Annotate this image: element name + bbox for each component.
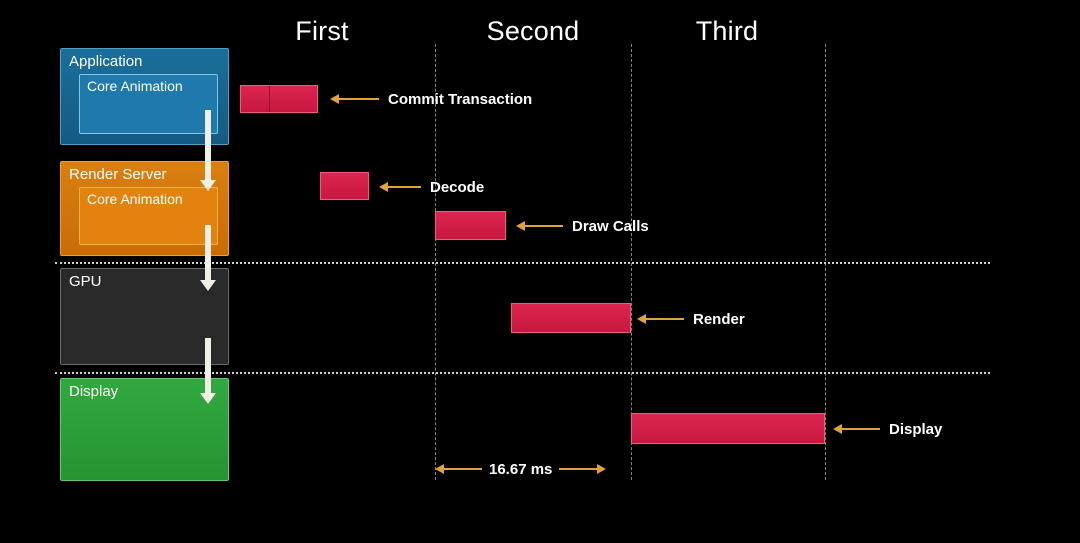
frame-header-second: Second — [487, 16, 580, 47]
frame-header-first: First — [295, 16, 348, 47]
left-arrow-icon — [637, 314, 646, 324]
frame-header-third: Third — [696, 16, 759, 47]
measure-right-arrow-icon — [597, 464, 606, 474]
application-core-animation-label: Core Animation — [87, 78, 183, 94]
bar-display — [631, 413, 825, 444]
frame-duration-measure: 16.67 ms — [435, 461, 631, 477]
left-arrow-icon — [833, 424, 842, 434]
flow-arrow-application-to-render-server — [205, 110, 211, 182]
diagram-canvas: First Second Third Application Core Anim… — [0, 0, 1080, 543]
bar-commit-transaction — [240, 85, 318, 113]
bar-decode — [320, 172, 369, 200]
lane-divider-render-gpu — [55, 262, 990, 264]
callout-label-display: Display — [889, 421, 942, 438]
flow-arrow-gpu-to-display — [205, 338, 211, 395]
left-arrow-icon — [330, 94, 339, 104]
lane-title-render-server: Render Server — [69, 166, 167, 183]
left-arrow-icon — [379, 182, 388, 192]
bar-draw-calls — [435, 211, 506, 240]
lane-block-render-server: Render Server Core Animation — [60, 161, 229, 256]
render-server-core-animation-label: Core Animation — [87, 191, 183, 207]
lane-title-application: Application — [69, 53, 142, 70]
callout-display: Display — [833, 421, 942, 437]
render-server-core-animation-box: Core Animation — [79, 187, 218, 245]
application-core-animation-box: Core Animation — [79, 74, 218, 134]
callout-leader-line — [388, 186, 421, 188]
callout-leader-line — [525, 225, 563, 227]
flow-arrow-render-server-to-gpu — [205, 225, 211, 282]
callout-render: Render — [637, 311, 745, 327]
lane-divider-gpu-display — [55, 372, 990, 374]
callout-label-decode: Decode — [430, 179, 484, 196]
callout-leader-line — [842, 428, 880, 430]
bar-segment-divider — [269, 86, 270, 112]
callout-draw-calls: Draw Calls — [516, 218, 649, 234]
lane-title-gpu: GPU — [69, 273, 102, 290]
left-arrow-icon — [516, 221, 525, 231]
measure-label-frame-duration: 16.67 ms — [482, 461, 559, 478]
measure-line-right — [559, 468, 597, 470]
callout-leader-line — [339, 98, 379, 100]
bar-render — [511, 303, 631, 333]
flow-arrow-head-icon — [200, 180, 216, 191]
lane-title-display: Display — [69, 383, 118, 400]
callout-label-commit-transaction: Commit Transaction — [388, 91, 532, 108]
callout-leader-line — [646, 318, 684, 320]
flow-arrow-head-icon — [200, 280, 216, 291]
measure-line-left — [444, 468, 482, 470]
measure-left-arrow-icon — [435, 464, 444, 474]
callout-commit-transaction: Commit Transaction — [330, 91, 532, 107]
lane-block-application: Application Core Animation — [60, 48, 229, 145]
flow-arrow-head-icon — [200, 393, 216, 404]
callout-label-render: Render — [693, 311, 745, 328]
callout-label-draw-calls: Draw Calls — [572, 218, 649, 235]
callout-decode: Decode — [379, 179, 484, 195]
